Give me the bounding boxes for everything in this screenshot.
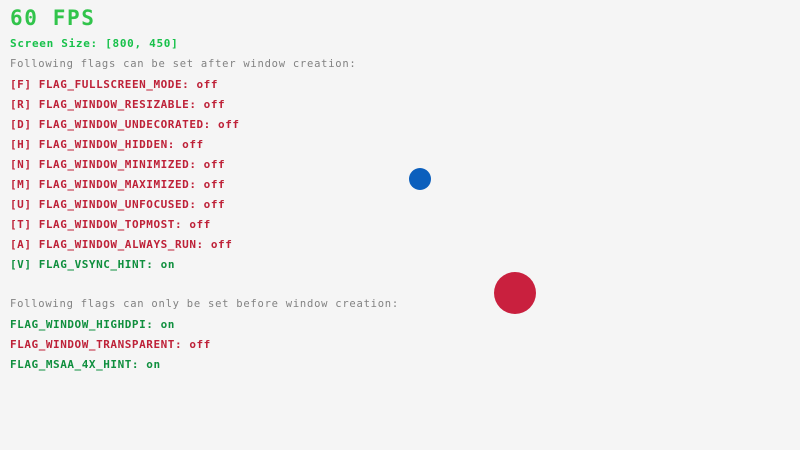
flag-value: off [218, 118, 240, 131]
flag-value: off [211, 238, 233, 251]
flag-shortcut-key: [T] [10, 218, 39, 231]
flag-value: on [146, 358, 160, 371]
flag-value: on [161, 258, 175, 271]
flag-name: FLAG_MSAA_4X_HINT: [10, 358, 146, 371]
flag-row[interactable]: [R] FLAG_WINDOW_RESIZABLE: off [10, 99, 225, 110]
flag-value: off [204, 198, 226, 211]
flag-value: off [204, 98, 226, 111]
flag-name: FLAG_WINDOW_TOPMOST: [39, 218, 190, 231]
flag-row[interactable]: [U] FLAG_WINDOW_UNFOCUSED: off [10, 199, 225, 210]
flag-name: FLAG_WINDOW_MINIMIZED: [39, 158, 204, 171]
pre-creation-heading: Following flags can only be set before w… [10, 299, 399, 310]
flag-value: off [182, 138, 204, 151]
flag-row[interactable]: [N] FLAG_WINDOW_MINIMIZED: off [10, 159, 225, 170]
flag-shortcut-key: [F] [10, 78, 39, 91]
red-circle [494, 272, 536, 314]
flag-shortcut-key: [N] [10, 158, 39, 171]
flag-name: FLAG_WINDOW_HIGHDPI: [10, 318, 161, 331]
flag-value: off [189, 218, 211, 231]
fps-counter: 60 FPS [10, 8, 95, 29]
flag-name: FLAG_VSYNC_HINT: [39, 258, 161, 271]
flag-row[interactable]: [D] FLAG_WINDOW_UNDECORATED: off [10, 119, 240, 130]
flag-row[interactable]: [T] FLAG_WINDOW_TOPMOST: off [10, 219, 211, 230]
flag-shortcut-key: [A] [10, 238, 39, 251]
flag-name: FLAG_FULLSCREEN_MODE: [39, 78, 197, 91]
flag-value: off [197, 78, 219, 91]
flag-row[interactable]: [M] FLAG_WINDOW_MAXIMIZED: off [10, 179, 225, 190]
flag-row[interactable]: FLAG_WINDOW_HIGHDPI: on [10, 319, 175, 330]
flag-name: FLAG_WINDOW_UNFOCUSED: [39, 198, 204, 211]
flag-name: FLAG_WINDOW_HIDDEN: [39, 138, 182, 151]
flag-shortcut-key: [V] [10, 258, 39, 271]
flag-name: FLAG_WINDOW_RESIZABLE: [39, 98, 204, 111]
flag-name: FLAG_WINDOW_MAXIMIZED: [39, 178, 204, 191]
flag-value: on [161, 318, 175, 331]
screen-size-label: Screen Size: [800, 450] [10, 38, 178, 49]
flag-row[interactable]: [V] FLAG_VSYNC_HINT: on [10, 259, 175, 270]
flag-row[interactable]: [F] FLAG_FULLSCREEN_MODE: off [10, 79, 218, 90]
flag-value: off [189, 338, 211, 351]
flag-row[interactable]: [H] FLAG_WINDOW_HIDDEN: off [10, 139, 204, 150]
flag-row[interactable]: FLAG_MSAA_4X_HINT: on [10, 359, 161, 370]
flag-value: off [204, 158, 226, 171]
post-creation-heading: Following flags can be set after window … [10, 59, 357, 70]
flag-name: FLAG_WINDOW_TRANSPARENT: [10, 338, 189, 351]
flag-row[interactable]: FLAG_WINDOW_TRANSPARENT: off [10, 339, 211, 350]
flag-row[interactable]: [A] FLAG_WINDOW_ALWAYS_RUN: off [10, 239, 232, 250]
flag-shortcut-key: [M] [10, 178, 39, 191]
flag-name: FLAG_WINDOW_UNDECORATED: [39, 118, 218, 131]
raylib-window-canvas[interactable]: 60 FPS Screen Size: [800, 450] Following… [0, 0, 800, 450]
flag-shortcut-key: [D] [10, 118, 39, 131]
flag-value: off [204, 178, 226, 191]
blue-circle [409, 168, 431, 190]
flag-shortcut-key: [U] [10, 198, 39, 211]
flag-name: FLAG_WINDOW_ALWAYS_RUN: [39, 238, 211, 251]
flag-shortcut-key: [R] [10, 98, 39, 111]
flag-shortcut-key: [H] [10, 138, 39, 151]
